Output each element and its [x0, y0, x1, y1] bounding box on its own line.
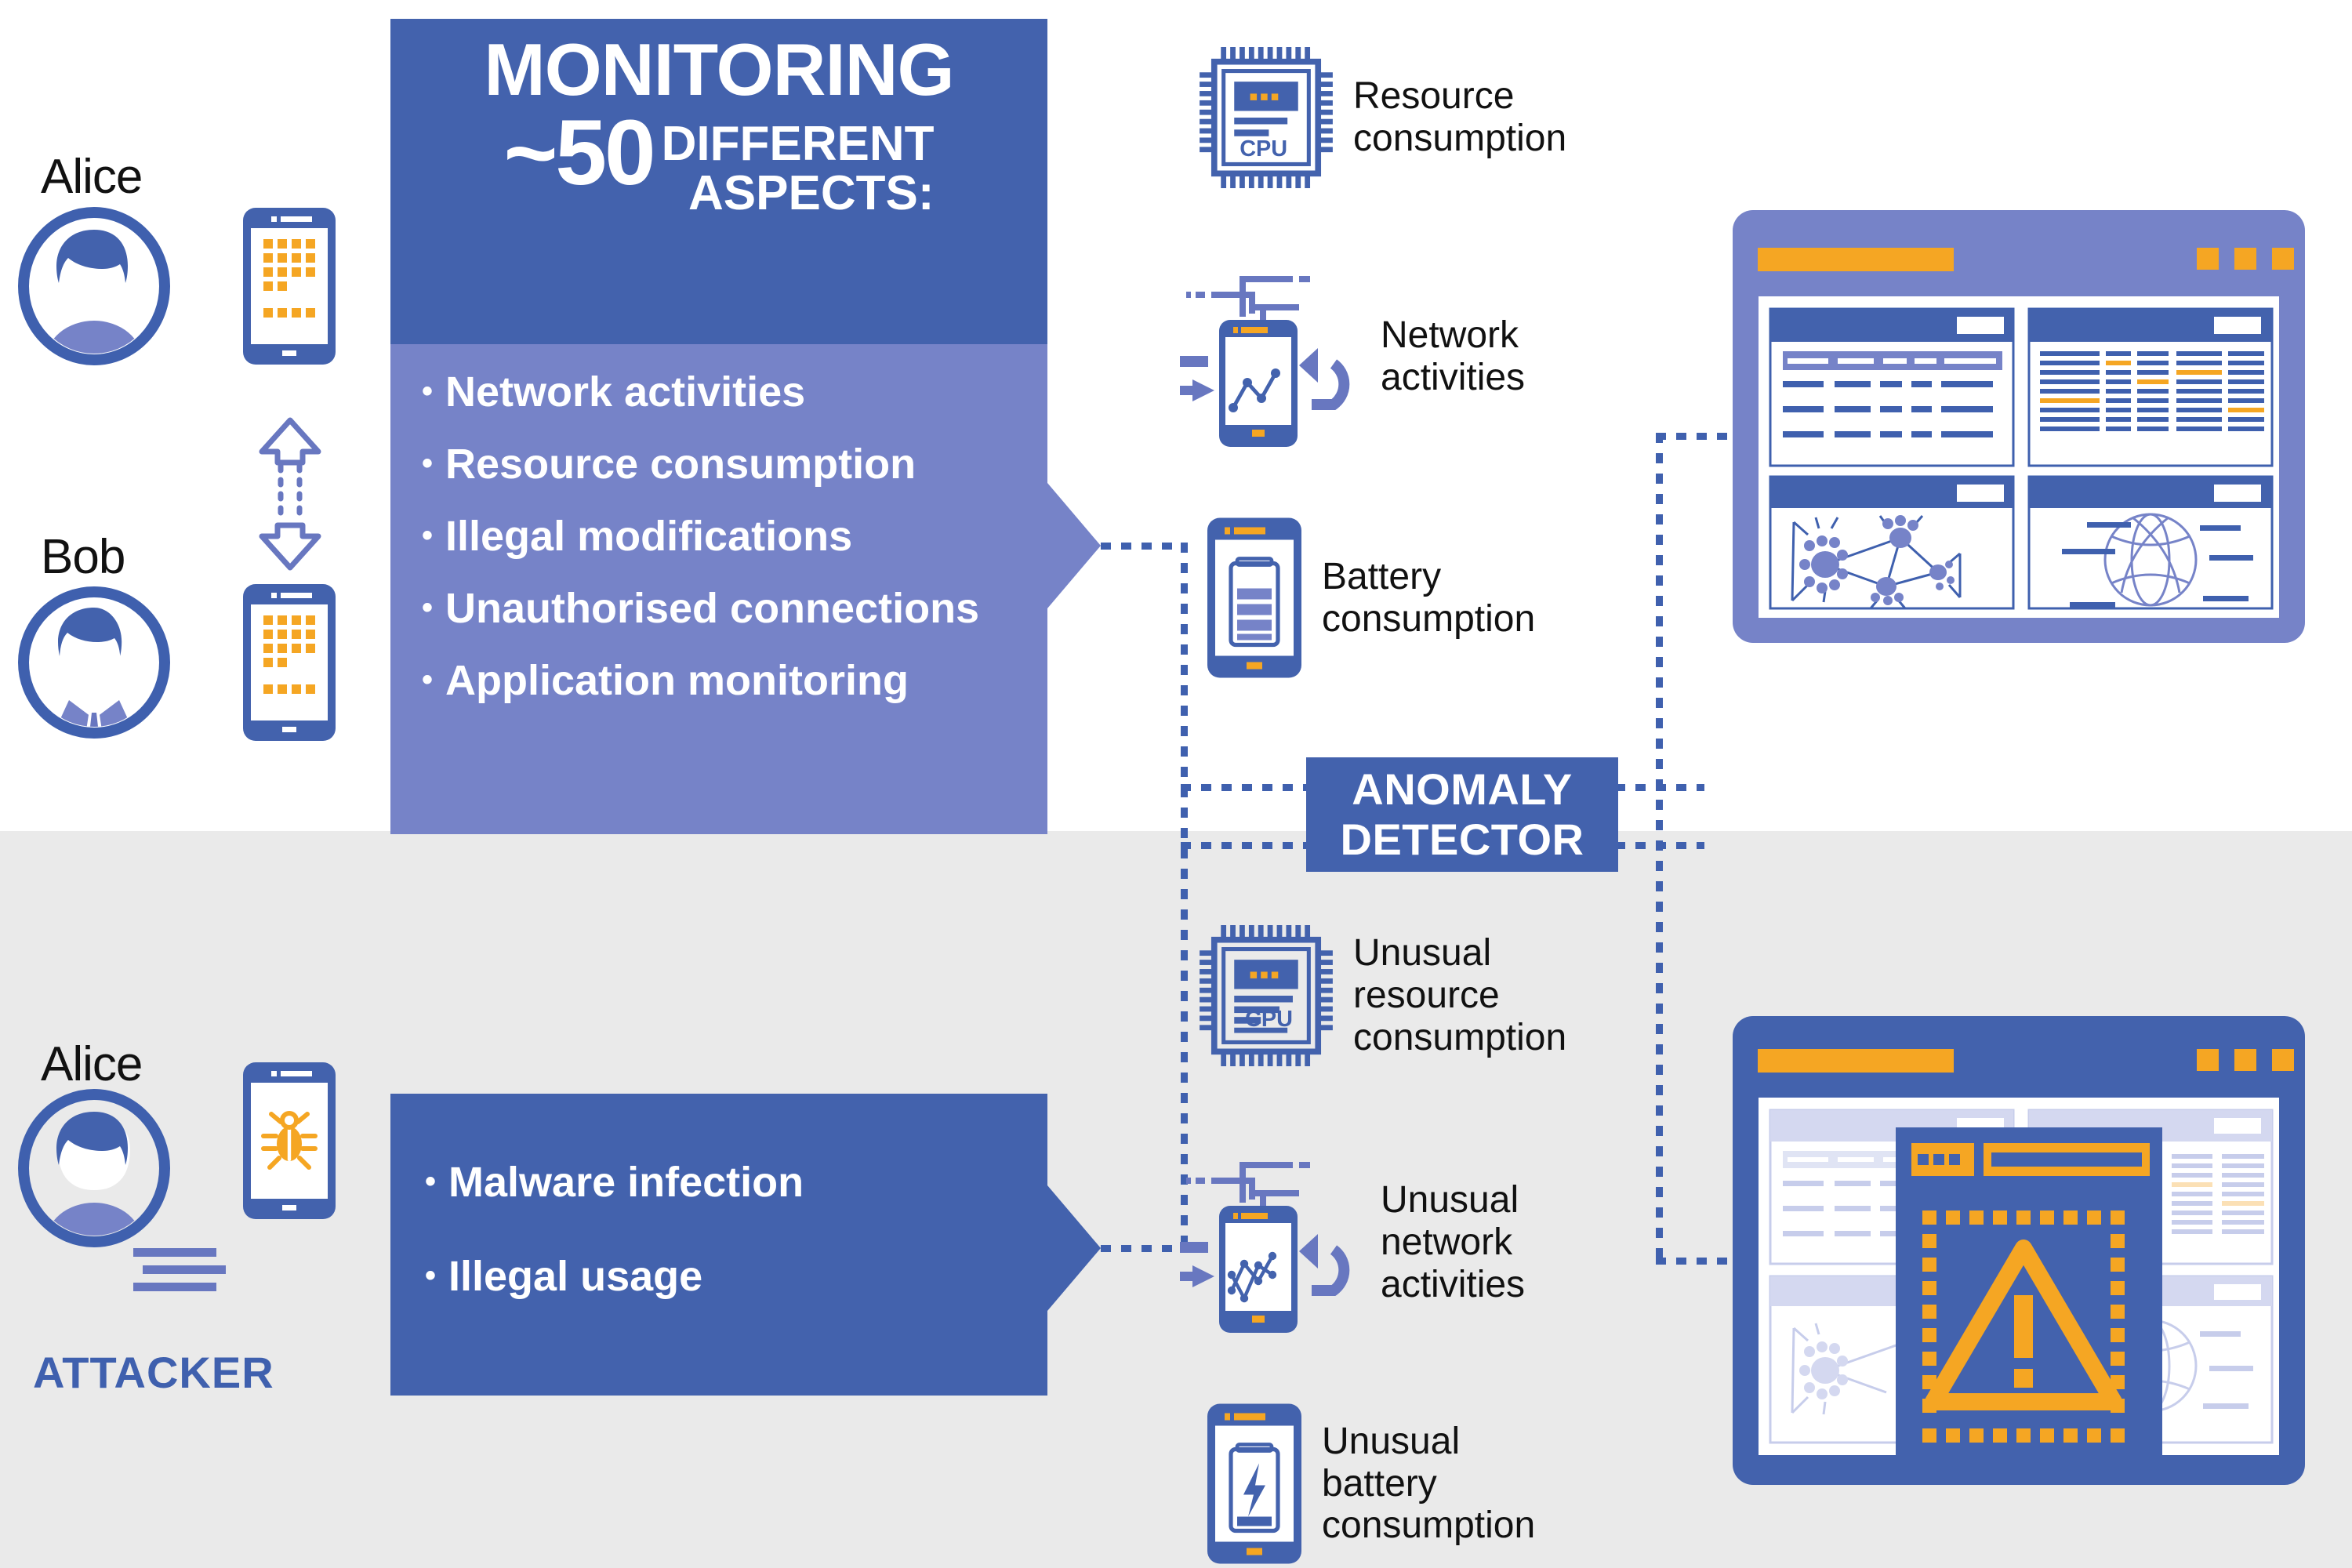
aspect-unusual-network-activities: Unusual network activities	[1180, 1152, 1525, 1333]
monitoring-aspect-list: •Network activities •Resource consumptio…	[422, 371, 1016, 702]
aspect-label: Unusual battery consumption	[1322, 1421, 1535, 1547]
window-control-2	[2234, 248, 2256, 270]
aspect-battery-consumption: Battery consumption	[1207, 517, 1535, 678]
phone-apps-bob	[243, 584, 336, 741]
aspect-label: Unusual network activities	[1381, 1179, 1525, 1305]
monitoring-panel-arrow-icon	[1047, 483, 1102, 608]
bullet-icon: •	[425, 1255, 436, 1296]
dashboard-card-globe	[2029, 477, 2272, 608]
threat-panel-body: •Malware infection •Illegal usage	[390, 1094, 1047, 1396]
connector-to-alert-dashboard	[1656, 1258, 1742, 1265]
connector-to-normal-dashboard	[1656, 433, 1742, 440]
alert-modal	[1896, 1127, 2162, 1480]
window-control-1	[2197, 248, 2219, 270]
anomaly-detector-line1: ANOMALY	[1341, 764, 1584, 815]
phone-apps-alice-top	[243, 208, 336, 365]
monitoring-subtitle-line2: ASPECTS:	[662, 169, 935, 218]
list-item-label: Illegal modifications	[445, 515, 852, 557]
monitoring-subtitle-line1: DIFFERENT	[662, 117, 935, 171]
connector-bus-to-anomaly-bottom	[1181, 842, 1306, 849]
attacker-label: ATTACKER	[33, 1347, 274, 1398]
window-control-3	[2272, 1049, 2294, 1071]
monitoring-count: ~50	[503, 107, 653, 199]
dashboard-card-log-right	[2029, 309, 2272, 466]
list-item: •Network activities	[422, 371, 1016, 413]
cpu-label: CPU	[1245, 1007, 1293, 1032]
aspect-label: Network activities	[1381, 314, 1525, 399]
user-label-alice-bottom: Alice	[41, 1036, 142, 1092]
window-control-1	[2197, 1049, 2219, 1071]
battery-phone-icon	[1207, 517, 1301, 678]
bullet-icon: •	[422, 587, 433, 628]
user-label-bob: Bob	[41, 529, 125, 585]
signal-lines-icon	[133, 1247, 235, 1294]
monitoring-title: MONITORING	[417, 33, 1021, 107]
list-item: •Unauthorised connections	[422, 587, 1016, 630]
battery-bolt-phone-icon	[1207, 1403, 1301, 1564]
threat-panel-arrow-icon	[1047, 1185, 1102, 1311]
bullet-icon: •	[422, 443, 433, 484]
aspect-resource-consumption: CPU Resource consumption	[1200, 47, 1566, 188]
cpu-label: CPU	[1240, 136, 1287, 162]
aspect-network-activities: Network activities	[1180, 267, 1525, 447]
dashboard-card-network-graph	[1770, 477, 2013, 608]
connector-vertical-bus	[1181, 543, 1188, 1248]
network-phone-icon	[1180, 267, 1360, 447]
bullet-icon: •	[422, 371, 433, 412]
alert-dashboard-window[interactable]	[1733, 1016, 2305, 1485]
cpu-chip-icon: CPU	[1200, 925, 1333, 1066]
bullet-icon: •	[422, 659, 433, 700]
avatar-bob	[16, 584, 172, 741]
aspect-unusual-battery-consumption: Unusual battery consumption	[1207, 1403, 1535, 1564]
monitoring-panel-body: •Network activities •Resource consumptio…	[390, 344, 1047, 834]
bullet-icon: •	[422, 515, 433, 556]
list-item-label: Malware infection	[448, 1161, 804, 1203]
monitoring-dashboard-window[interactable]	[1733, 210, 2305, 643]
connector-threat-to-bus	[1101, 1245, 1187, 1252]
cpu-chip-icon: CPU	[1200, 47, 1333, 188]
infographic-canvas: Alice	[0, 0, 2352, 1568]
bidirectional-sync-arrow-icon	[251, 416, 329, 572]
list-item: •Illegal modifications	[422, 515, 1016, 557]
avatar-alice-top	[16, 208, 172, 365]
aspect-unusual-resource-consumption: CPU Unusual resource consumption	[1200, 925, 1566, 1066]
anomaly-detector-box: ANOMALY DETECTOR	[1306, 757, 1618, 872]
list-item: •Resource consumption	[422, 443, 1016, 485]
dashboard-card-table-left	[1770, 309, 2013, 466]
monitoring-panel-header: MONITORING ~50 DIFFERENT ASPECTS:	[390, 19, 1047, 344]
avatar-alice-attacker	[16, 1090, 172, 1247]
window-title-bar	[1758, 1049, 1954, 1073]
connector-monitoring-to-bus	[1101, 543, 1187, 550]
aspect-label: Resource consumption	[1353, 75, 1566, 160]
window-control-3	[2272, 248, 2294, 270]
list-item-label: Resource consumption	[445, 443, 916, 485]
list-item-label: Network activities	[445, 371, 805, 413]
network-phone-icon	[1180, 1152, 1360, 1333]
list-item-label: Illegal usage	[448, 1255, 702, 1298]
connector-right-bus	[1656, 433, 1663, 1264]
bullet-icon: •	[425, 1161, 436, 1202]
threat-list: •Malware infection •Illegal usage	[390, 1094, 1047, 1417]
list-item-label: Unauthorised connections	[445, 587, 979, 630]
window-control-2	[2234, 1049, 2256, 1071]
user-label-alice-top: Alice	[41, 149, 142, 205]
aspect-label: Unusual resource consumption	[1353, 932, 1566, 1058]
list-item: •Application monitoring	[422, 659, 1016, 702]
aspect-label: Battery consumption	[1322, 556, 1535, 641]
list-item: •Malware infection	[425, 1161, 1013, 1203]
list-item-label: Application monitoring	[445, 659, 909, 702]
list-item: •Illegal usage	[425, 1255, 1013, 1298]
window-title-bar	[1758, 248, 1954, 271]
anomaly-detector-line2: DETECTOR	[1341, 815, 1584, 865]
connector-bus-to-anomaly-top	[1181, 784, 1306, 791]
phone-malware-icon	[243, 1062, 336, 1219]
